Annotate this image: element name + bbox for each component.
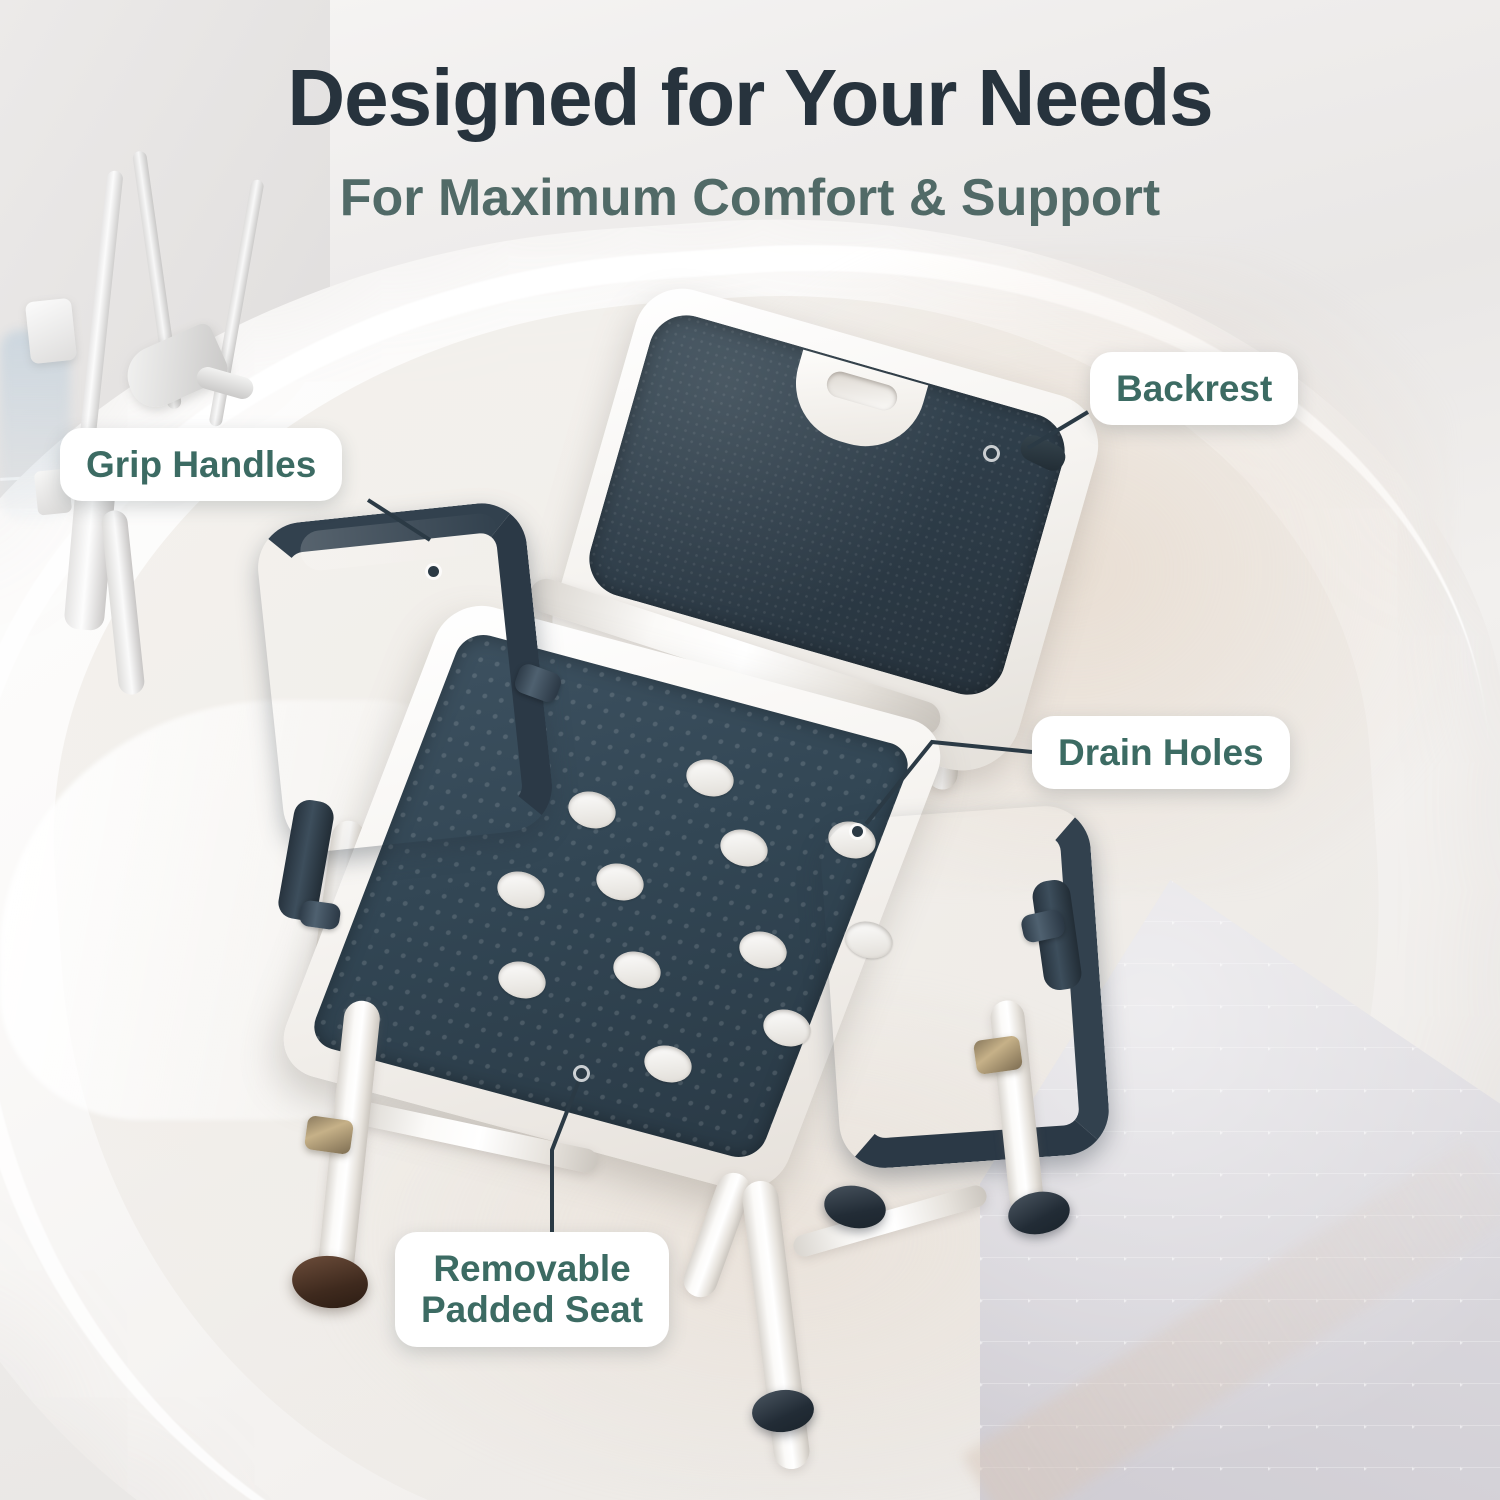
callout-anchor-grip-handles [428,566,439,577]
callout-anchor-backrest [986,448,997,459]
page-subtitle: For Maximum Comfort & Support [0,168,1500,228]
foot-cap-front-left [289,1252,370,1312]
callout-grip-handles: Grip Handles [60,428,342,501]
callout-removable-padded-seat: Removable Padded Seat [395,1232,669,1347]
height-adjust-knob-front-right [973,1035,1023,1075]
height-adjust-knob-left [304,1115,354,1155]
callout-anchor-seat [576,1068,587,1079]
cross-brace-rear [791,1183,989,1259]
callout-backrest: Backrest [1090,352,1298,425]
callout-drain-holes: Drain Holes [1032,716,1290,789]
leg-rear-left [679,1168,755,1302]
product-feature-image: Designed for Your Needs For Maximum Comf… [0,0,1500,1500]
callout-anchor-drain-holes [852,826,863,837]
page-title: Designed for Your Needs [0,52,1500,144]
frame-collar-left-leg [298,899,341,930]
